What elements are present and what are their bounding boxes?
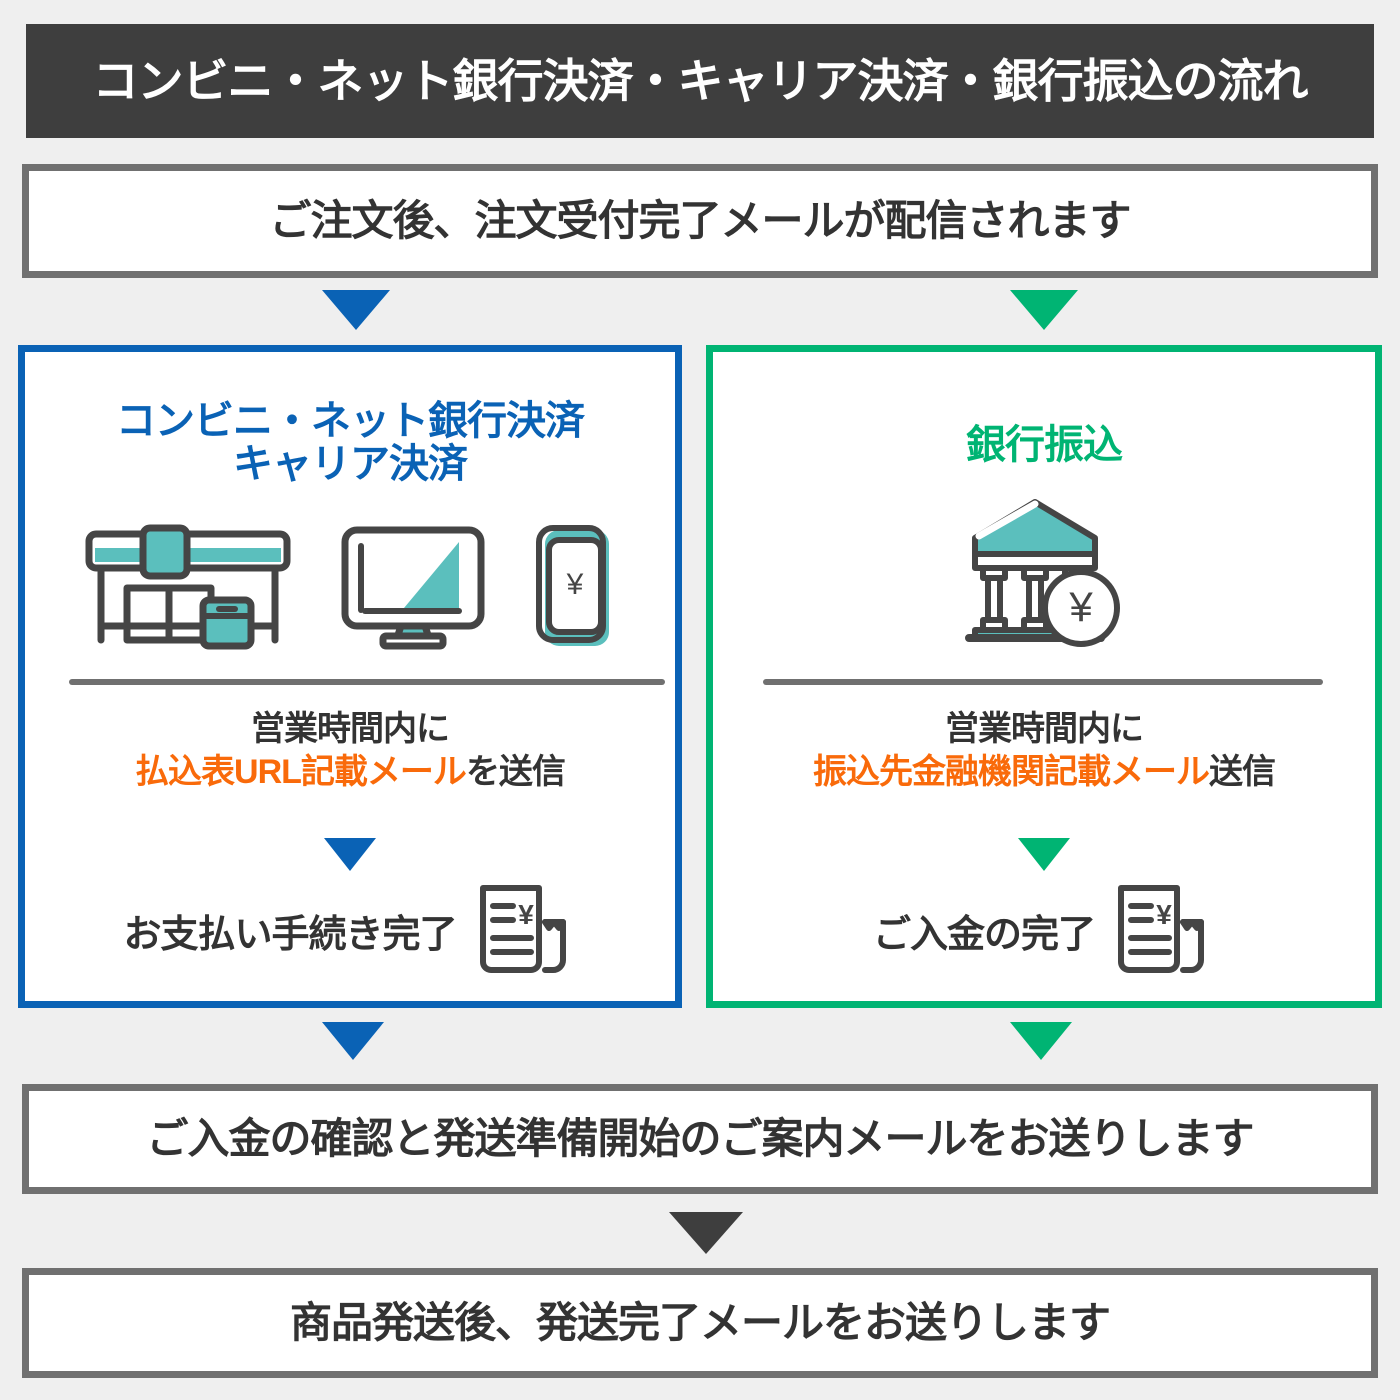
panel-cvs-done-label: お支払い手続き完了 [123, 903, 456, 958]
panel-cvs-done: お支払い手続き完了 ¥ [25, 882, 675, 978]
panel-convenience-payment: コンビニ・ネット銀行決済 キャリア決済 [18, 345, 682, 1008]
svg-text:¥: ¥ [1068, 583, 1093, 630]
panel-cvs-notice-suffix: を送信 [466, 753, 565, 791]
panel-cvs-icons: ¥ [25, 522, 675, 650]
panel-cvs-notice-highlight: 払込表URL記載メール [135, 753, 466, 791]
panel-bank-notice-suffix: 送信 [1209, 753, 1275, 791]
panel-cvs-notice-line1: 営業時間内に [25, 708, 675, 751]
panel-cvs-down-arrow [25, 838, 675, 871]
panel-cvs-title: コンビニ・ネット銀行決済 キャリア決済 [25, 400, 675, 486]
panel-bank-done: ご入金の完了 ¥ [713, 882, 1375, 978]
panel-bank-notice: 営業時間内に 振込先金融機関記載メール送信 [713, 708, 1375, 793]
down-arrow-confirm-to-shipped-icon [669, 1212, 743, 1254]
step-order-box: ご注文後、注文受付完了メールが配信されます [22, 164, 1378, 278]
svg-text:¥: ¥ [1156, 899, 1172, 930]
panel-bank-notice-highlight: 振込先金融機関記載メール [813, 753, 1209, 791]
flow-diagram: コンビニ・ネット銀行決済・キャリア決済・銀行振込の流れ ご注文後、注文受付完了メ… [0, 0, 1400, 1400]
step-payment-confirmed-text: ご入金の確認と発送準備開始のご案内メールをお送りします [146, 1118, 1253, 1160]
smartphone-yen-icon: ¥ [529, 522, 621, 650]
monitor-icon [337, 522, 489, 650]
panel-bank-notice-line2: 振込先金融機関記載メール送信 [713, 751, 1375, 794]
panel-bank-notice-line1: 営業時間内に [713, 708, 1375, 751]
page-title-text: コンビニ・ネット銀行決済・キャリア決済・銀行振込の流れ [93, 58, 1308, 104]
step-payment-confirmed-box: ご入金の確認と発送準備開始のご案内メールをお送りします [22, 1084, 1378, 1194]
panel-bank-done-label: ご入金の完了 [873, 903, 1095, 958]
svg-text:¥: ¥ [518, 899, 534, 930]
panel-bank-transfer: 銀行振込 [706, 345, 1382, 1008]
panel-cvs-notice-line2: 払込表URL記載メールを送信 [25, 751, 675, 794]
down-arrow-bank-to-confirm-icon [1010, 1022, 1072, 1060]
panel-cvs-notice: 営業時間内に 払込表URL記載メールを送信 [25, 708, 675, 793]
panel-bank-down-arrow [713, 838, 1375, 871]
panel-bank-icons: ¥ [713, 494, 1375, 652]
step-shipped-text: 商品発送後、発送完了メールをお送りします [290, 1302, 1110, 1344]
bank-yen-icon: ¥ [959, 494, 1129, 652]
down-arrow-cvs-to-confirm-icon [322, 1022, 384, 1060]
step-shipped-box: 商品発送後、発送完了メールをお送りします [22, 1268, 1378, 1378]
panel-bank-divider [763, 679, 1323, 685]
receipt-yen-icon: ¥ [469, 882, 577, 978]
svg-text:¥: ¥ [566, 568, 584, 601]
convenience-store-icon [79, 522, 297, 650]
receipt-yen-icon: ¥ [1107, 882, 1215, 978]
panel-cvs-divider [69, 679, 665, 685]
step-order-text: ご注文後、注文受付完了メールが配信されます [269, 200, 1130, 242]
panel-bank-title: 銀行振込 [713, 424, 1375, 467]
down-arrow-to-bank-icon [1010, 290, 1078, 330]
down-arrow-to-cvs-icon [322, 290, 390, 330]
page-title: コンビニ・ネット銀行決済・キャリア決済・銀行振込の流れ [26, 24, 1374, 138]
